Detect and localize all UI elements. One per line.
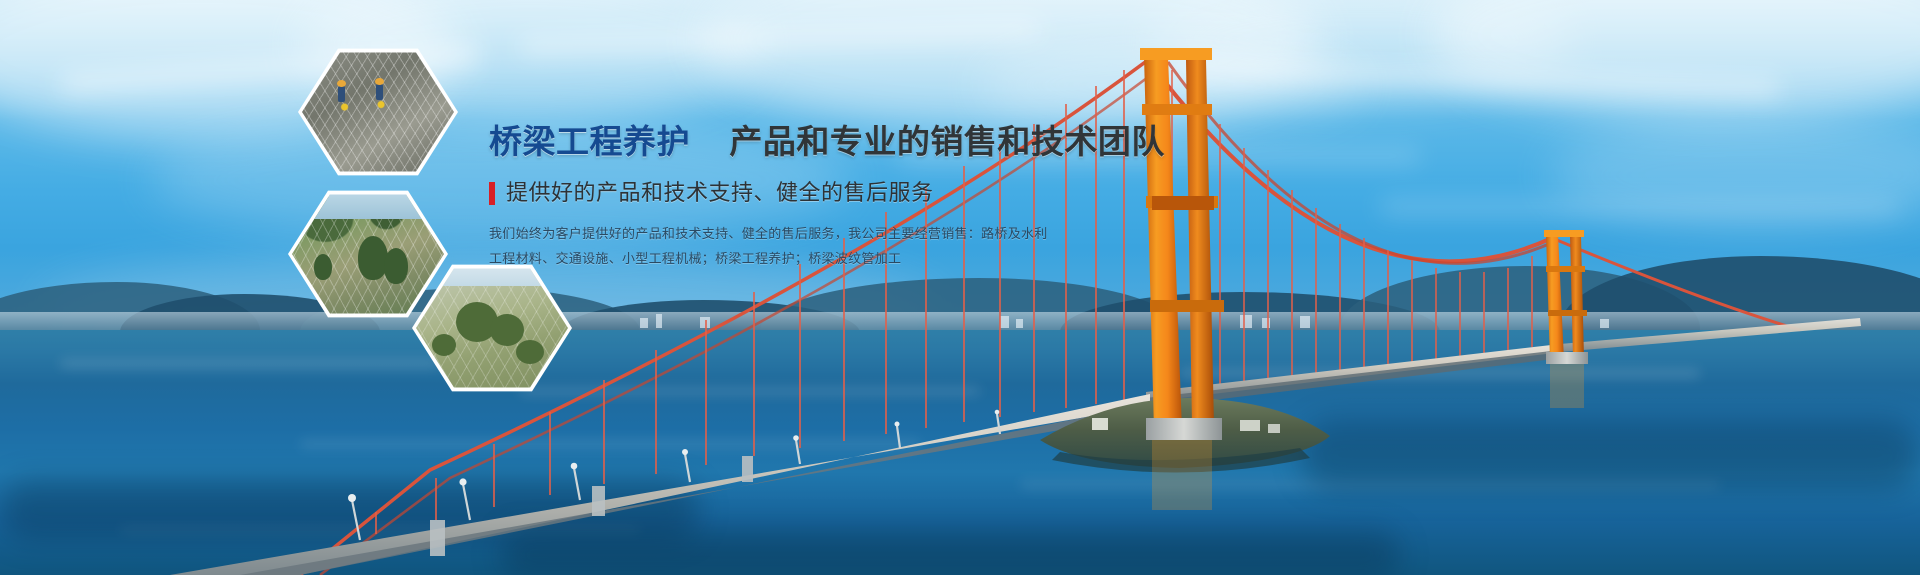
banner-copy: 桥梁工程养护 产品和专业的销售和技术团队 提供好的产品和技术支持、健全的售后服务… — [489, 120, 1109, 274]
headline-primary: 桥梁工程养护 — [489, 123, 690, 160]
headline: 桥梁工程养护 产品和专业的销售和技术团队 — [489, 120, 1109, 164]
hex-thumbnail-2[interactable] — [292, 192, 444, 316]
subheadline-text: 提供好的产品和技术支持、健全的售后服务 — [506, 179, 934, 207]
subheadline: 提供好的产品和技术支持、健全的售后服务 — [489, 179, 1109, 207]
hero-banner: 桥梁工程养护 产品和专业的销售和技术团队 提供好的产品和技术支持、健全的售后服务… — [0, 0, 1920, 575]
headline-secondary: 产品和专业的销售和技术团队 — [729, 123, 1165, 160]
description-line-1: 我们始终为客户提供好的产品和技术支持、健全的售后服务，我公司主要经营销售：路桥及… — [489, 224, 1109, 244]
description-paragraph: 我们始终为客户提供好的产品和技术支持、健全的售后服务，我公司主要经营销售：路桥及… — [489, 224, 1109, 269]
description-line-2: 工程材料、交通设施、小型工程机械；桥梁工程养护；桥梁波纹管加工 — [489, 249, 1109, 269]
hex-thumbnail-1[interactable] — [302, 50, 454, 174]
red-accent-bar — [489, 182, 495, 205]
hex-thumbnail-3[interactable] — [416, 266, 568, 390]
